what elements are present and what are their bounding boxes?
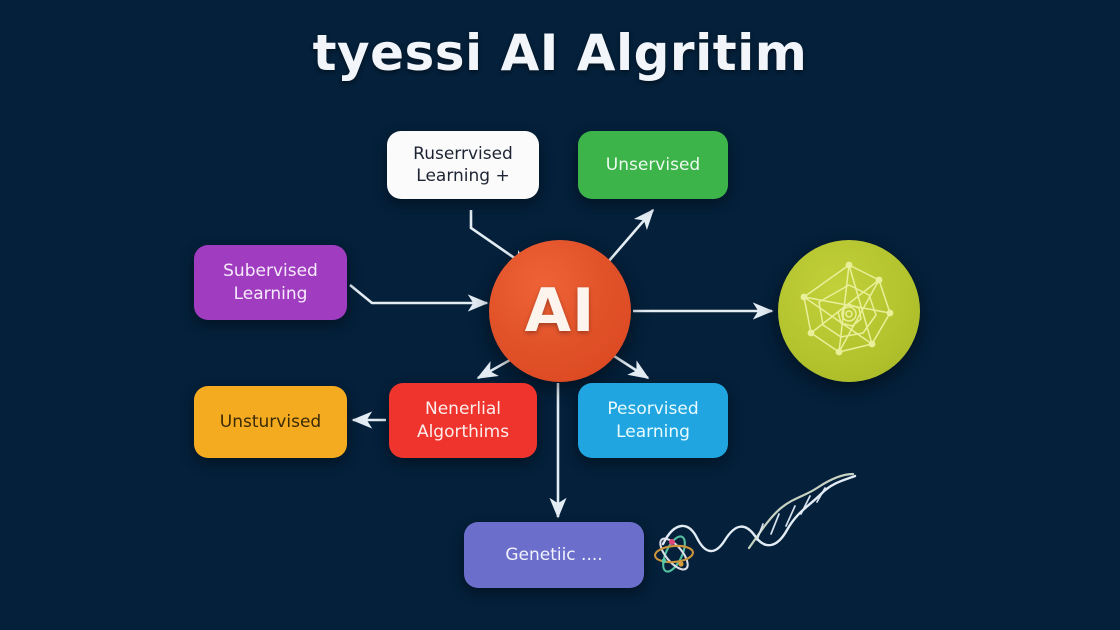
- node-label: NenerlialAlgorthims: [417, 398, 509, 443]
- node-unsupervised-left[interactable]: Unsturvised: [194, 386, 347, 458]
- neural-network-graph-icon: [793, 255, 905, 367]
- node-label: RuserrvisedLearning +: [413, 143, 513, 188]
- node-neural-algorithms[interactable]: NenerlialAlgorthims: [389, 383, 537, 458]
- node-unsupervised-top[interactable]: Unservised: [578, 131, 728, 199]
- diagram-canvas: tyessi AI Algritim: [0, 0, 1120, 630]
- edge-ai-to-unsupervised-top: [608, 210, 653, 262]
- node-label: Unservised: [606, 154, 700, 176]
- node-label: PesorvisedLearning: [607, 398, 698, 443]
- node-reinforcement-top[interactable]: RuserrvisedLearning +: [387, 131, 539, 199]
- edge-ai-to-neural: [478, 360, 510, 378]
- center-node-label: AI: [525, 276, 596, 346]
- node-reinforcement-learning[interactable]: PesorvisedLearning: [578, 383, 728, 458]
- node-genetic-algorithms[interactable]: Genetiic ....: [464, 522, 644, 588]
- node-label: Unsturvised: [220, 411, 321, 433]
- edge-supervised-to-ai: [350, 285, 487, 303]
- edge-ai-to-reinforcement: [614, 356, 648, 378]
- neural-network-node[interactable]: [778, 240, 920, 382]
- node-label: Genetiic ....: [505, 544, 602, 566]
- node-label: SubervisedLearning: [223, 260, 318, 305]
- node-supervised-left[interactable]: SubervisedLearning: [194, 245, 347, 320]
- center-node-ai[interactable]: AI: [489, 240, 631, 382]
